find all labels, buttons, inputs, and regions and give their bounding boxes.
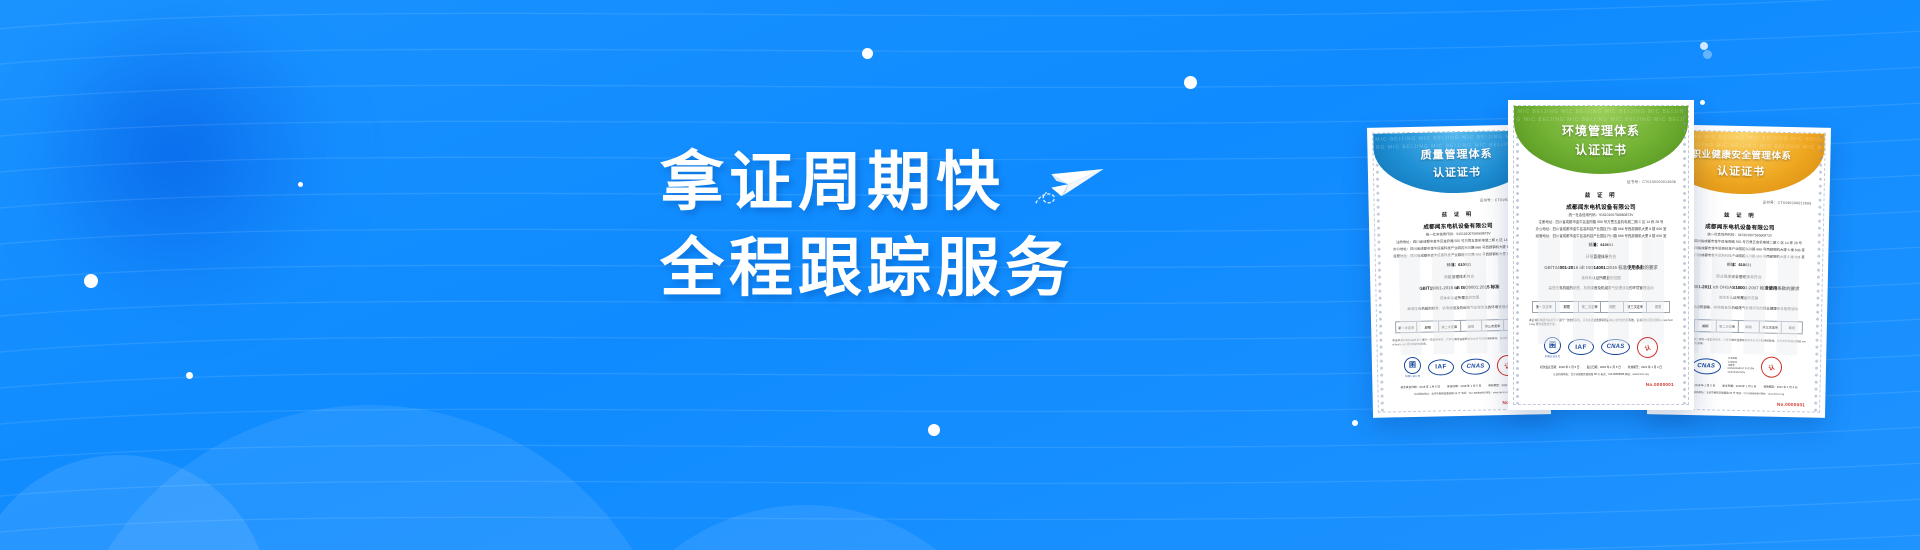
decor-dot: [1703, 50, 1712, 59]
iaf-logo-label: IAF: [1568, 339, 1594, 355]
cnas-logo: CNAS: [1692, 358, 1721, 375]
iaf-logo: IAF: [1428, 359, 1454, 376]
decor-dot: [1352, 420, 1358, 426]
certificate-title-line-1: 环境管理体系: [1562, 122, 1640, 139]
cqc-logo: 囷 中国认证认可: [1544, 337, 1561, 359]
cqc-logo-label: 中国认证认可: [1545, 354, 1561, 358]
red-seal-stamp: 认: [1759, 355, 1784, 380]
certificate-credit-code: 统一社会信用代码：91510100756560873V: [1526, 213, 1676, 218]
certificate-date-issue: 初次发证日期：2018 年 1 月 5 日: [1400, 385, 1440, 390]
audit-cell: 第三次定审: [1760, 322, 1782, 333]
audit-cell: 期限: [1647, 302, 1669, 312]
certificate-date-cert: 发证日期：2018 年 1 月 5 日: [1447, 384, 1481, 389]
audit-cell: 期限: [1417, 321, 1439, 332]
certificate-company-name: 成都闻东电机设备有限公司: [1566, 203, 1636, 211]
certificate-zs-label: 兹 证 明: [1442, 210, 1474, 219]
certificate-scope: 高低压电机组的销售、机电噪音及机组尾气处理涉及的环境管理活动: [1549, 286, 1654, 291]
certificate-date-expire: 有效期至：2021 年 1 月 4 日: [1763, 385, 1797, 390]
cqc-logo-label: 中国认证认可: [1405, 374, 1421, 378]
audit-cell: 第二次定审: [1439, 321, 1461, 332]
certificate-system-name: 职业健康安全管理体系符合: [1716, 275, 1762, 281]
certificate-zip: 邮编：610031: [1727, 262, 1752, 269]
audit-cell: 期限: [1601, 302, 1624, 312]
cnas-logo-label: CNAS: [1692, 358, 1721, 375]
certificate-company-name: 成都闻东电机设备有限公司: [1705, 222, 1775, 231]
certificate-date-cert: 发证日期：2018 年 1 月 5 日: [1722, 384, 1756, 389]
certificate-company-name: 成都闻东电机设备有限公司: [1423, 221, 1493, 230]
certificate-scope-label: 该体系认证所覆盖的范围: [1581, 276, 1621, 281]
certificate-zip: 邮编：610031: [1446, 261, 1471, 268]
audit-cell: 期限: [1556, 302, 1579, 312]
certificate-date-issue: 初次发证日期：2018 年 1 月 5 日: [1540, 365, 1580, 369]
promo-banner: 拿证周期快 全程跟踪服务 MIC BEIJING MIC BEIJING MIC…: [0, 0, 1920, 550]
certificate-number: No.0000001: [1777, 402, 1805, 408]
certificate-zs-label: 兹 证 明: [1724, 210, 1756, 219]
certificate-date-expire: 有效期至：2021 年 1 月 4 日: [1628, 365, 1662, 369]
certificate-dates: 初次发证日期：2018 年 1 月 5 日 发证日期：2018 年 1 月 5 …: [1526, 365, 1676, 369]
audit-cell: 期限: [1781, 322, 1802, 333]
headline-line-1: 拿证周期快: [660, 140, 1005, 226]
iaf-logo: IAF: [1568, 339, 1594, 355]
paper-plane-icon: [1031, 150, 1107, 210]
cnas-logo-note: 认证机构 认可证书 注册号 MANAGEMENT SYSTEM CERTIFIC…: [1728, 358, 1755, 376]
certificate-title-line-2: 认证证书: [1717, 162, 1765, 179]
audit-cell: 第三次定审: [1624, 302, 1647, 312]
decor-dot: [186, 372, 193, 379]
iaf-logo-label: IAF: [1428, 359, 1454, 376]
audit-cell: 第一次定审: [1533, 302, 1556, 312]
cnas-logo: CNAS: [1461, 358, 1490, 375]
certificate-number: No.0000001: [1646, 382, 1674, 387]
certificate-standard: GB/T28001-2011 idt OHSAS18001:2007 标准使用条…: [1678, 284, 1799, 293]
certificate-title-line-2: 认证证书: [1575, 141, 1627, 158]
cnas-logo: CNAS: [1601, 339, 1630, 355]
audit-cell: 期限: [1461, 320, 1483, 331]
audit-cell: 第三次定审: [1482, 320, 1504, 331]
certificate-card-environment[interactable]: MIC BEIJING MIC BEIJING MIC BEIJING MIC …: [1508, 100, 1694, 410]
decor-dot: [862, 48, 873, 59]
certificate-serial: 证书号：CT0190200012606: [1627, 180, 1676, 185]
certificate-address-production: 经营地址：四川省成都市金牛区高科技产业园区兴川路 666 号西部钢机大厦 6 楼…: [1526, 234, 1676, 239]
certificate-footer: 认证机构地址：北京市朝阳区建国路 88 号 电话：010-88888888 网址…: [1529, 373, 1673, 377]
audit-cell: 第二次定审: [1717, 321, 1739, 332]
audit-cell: 第二次定审: [1579, 302, 1602, 312]
audit-cell: 第一次定审: [1396, 322, 1418, 333]
decor-dot: [298, 182, 303, 187]
certificate-watermark: MIC BEIJING MIC BEIJING MIC BEIJING MIC …: [1514, 106, 1688, 174]
certificate-standard: GB/T19001-2016 idt ISO9001:2015 标准: [1419, 284, 1499, 292]
red-seal-stamp: 认: [1635, 335, 1660, 360]
certificate-audit-table: 第一次定审 期限 第二次定审 期限 第三次定审 期限: [1532, 301, 1670, 313]
certificate-note: 本证书有效期内每年至少进行一次监督审核，只有在通过监督审核后本证书方能持续有效。…: [1529, 319, 1673, 328]
certificate-scope: 高低压电机组的销售、机电噪音及机组尾气处理涉及的职业健康安全管理活动: [1679, 305, 1798, 313]
certificate-address-registered: 注册地址：四川省成都市金牛区金府路 555 号万贯五金机电城二期 C 区 14 …: [1526, 220, 1676, 225]
decor-dot: [928, 424, 940, 436]
certificate-zs-label: 兹 证 明: [1585, 191, 1617, 199]
certificate-address-office: 办公地址：四川省成都市金牛区高科技产业园区兴川路 666 号西部钢机大厦 6 楼…: [1526, 227, 1676, 232]
certificate-standard: GB/T24001-2016 idt ISO14001:2015 标准使用条款的…: [1544, 265, 1657, 271]
cnas-logo-label: CNAS: [1601, 339, 1630, 355]
certificate-title-line-1: 职业健康安全管理体系: [1691, 146, 1791, 162]
audit-cell: 期限: [1738, 321, 1760, 332]
certificate-scope: 高低压电机组的销售、机电噪音及机组尾气处理涉及的环境管理活动: [1407, 304, 1512, 312]
headline-line-2: 全程跟踪服务: [660, 226, 1107, 312]
decor-dot: [84, 274, 98, 288]
certificate-date-cert: 发证日期：2018 年 1 月 5 日: [1587, 365, 1621, 369]
decor-dot: [1700, 42, 1708, 50]
audit-cell: 期限: [1695, 321, 1717, 332]
cnas-logo-label: CNAS: [1461, 358, 1490, 375]
certificate-logo-row: 囷 中国认证认可 IAF CNAS 认: [1526, 337, 1676, 359]
headline-block: 拿证周期快 全程跟踪服务: [660, 140, 1107, 312]
certificate-zip: 邮编：610031: [1589, 242, 1614, 248]
certificate-scope-label: 该体系认证所覆盖的范围: [1719, 296, 1759, 302]
certificate-title-line-2: 认证证书: [1433, 163, 1481, 180]
certificate-system-name: 质量管理体系符合: [1444, 274, 1474, 280]
certificate-title-line-1: 质量管理体系: [1420, 145, 1492, 163]
certificate-scope-label: 该体系认证所覆盖的范围: [1440, 295, 1480, 301]
certificate-group: MIC BEIJING MIC BEIJING MIC BEIJING MIC …: [1370, 78, 1890, 478]
certificate-serial: 证书号：CT0190200012606: [1762, 200, 1811, 206]
decor-dot: [1184, 76, 1197, 89]
certificate-audit-table: 第一次定审 期限 第二次定审 期限 第三次定审 期限: [1395, 319, 1526, 334]
certificate-system-name: 环境管理体系符合: [1586, 255, 1616, 260]
cqc-logo: 囷 中国认证认可: [1404, 357, 1421, 379]
